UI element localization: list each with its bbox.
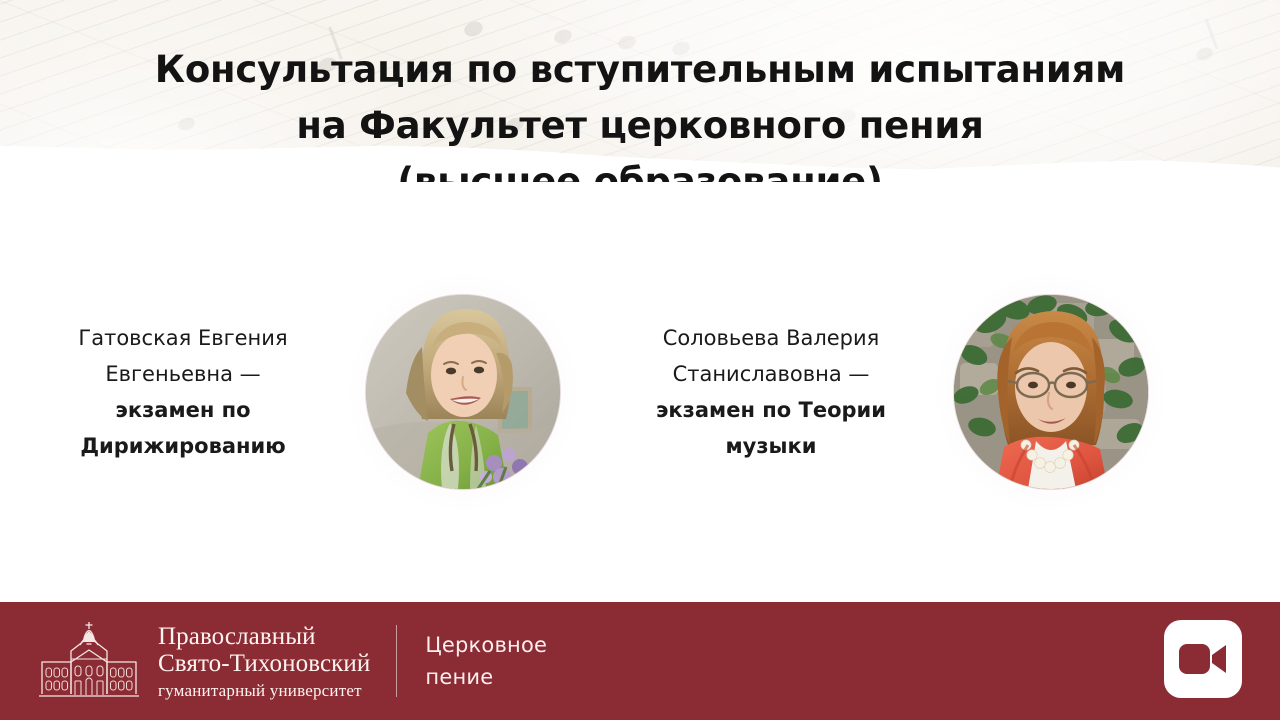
avatar [366,295,560,489]
presenter-role-line-1: экзамен по [18,392,348,428]
title-line-2: на Факультет церковного пения [0,98,1280,154]
title-line-1: Консультация по вступительным испытаниям [0,42,1280,98]
faculty-subject: Церковное пение [425,629,547,693]
title-line-3: (высшее образование) [0,154,1280,182]
presenter-role-line-2: музыки [606,428,936,464]
university-name-line-3: гуманитарный университет [158,679,370,702]
faculty-subject-line-1: Церковное [425,629,547,661]
faculty-subject-line-2: пение [425,661,547,693]
presenter-row: Гатовская Евгения Евгеньевна — экзамен п… [0,262,1280,522]
presenter-block-2: Соловьева Валерия Станиславовна — экзаме… [606,262,1166,522]
presenter-name-line-2: Станиславовна — [606,356,936,392]
presenter-photo-2 [936,277,1166,507]
video-camera-icon[interactable] [1164,620,1242,698]
presenter-role-line-2: Дирижированию [18,428,348,464]
slide-title: Консультация по вступительным испытаниям… [0,42,1280,182]
footer-divider [396,625,397,697]
presenter-name-line-2: Евгеньевна — [18,356,348,392]
footer-branding: Православный Свято-Тихоновский гуманитар… [36,620,547,702]
presenter-role-line-1: экзамен по Теории [606,392,936,428]
slide-header: Консультация по вступительным испытаниям… [0,0,1280,182]
university-name-line-1: Православный [158,623,370,650]
presenter-caption-2: Соловьева Валерия Станиславовна — экзаме… [606,320,936,464]
presenter-block-1: Гатовская Евгения Евгеньевна — экзамен п… [18,262,578,522]
university-name: Православный Свято-Тихоновский гуманитар… [158,621,370,702]
university-name-line-2: Свято-Тихоновский [158,650,370,677]
presenter-photo-1 [348,277,578,507]
university-building-icon [36,620,142,702]
presenter-name-line-1: Соловьева Валерия [606,320,936,356]
presenter-caption-1: Гатовская Евгения Евгеньевна — экзамен п… [18,320,348,464]
slide-footer: Православный Свято-Тихоновский гуманитар… [0,602,1280,720]
presentation-slide: Консультация по вступительным испытаниям… [0,0,1280,720]
presenter-name-line-1: Гатовская Евгения [18,320,348,356]
avatar [954,295,1148,489]
